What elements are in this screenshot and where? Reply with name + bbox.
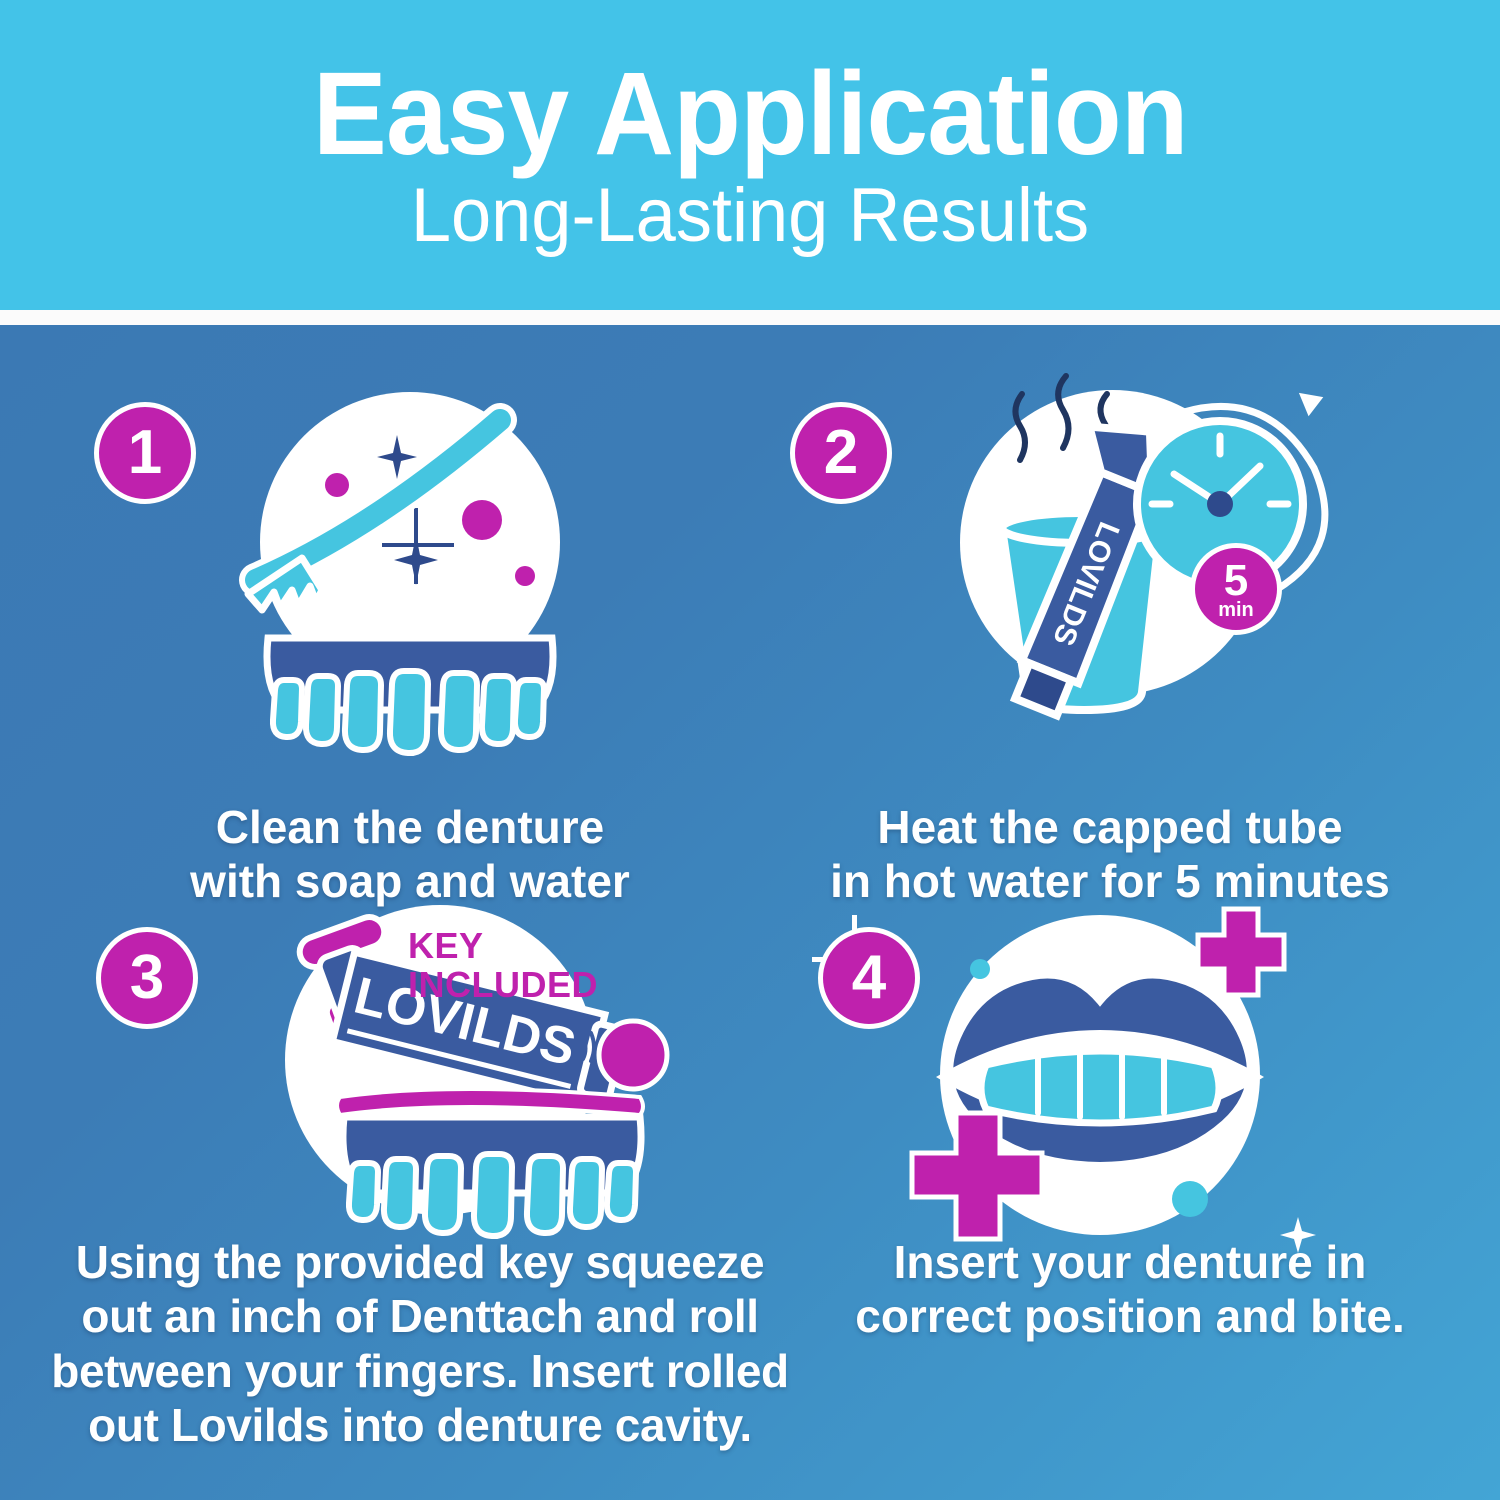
step-1: 1: [70, 380, 750, 940]
caption-line: Heat the capped tube: [760, 800, 1460, 854]
caption-line: correct position and bite.: [800, 1289, 1460, 1343]
step-1-caption: Clean the denture with soap and water: [70, 800, 750, 909]
caption-line: Insert your denture in: [800, 1235, 1460, 1289]
step-3-caption: Using the provided key squeeze out an in…: [40, 1235, 800, 1452]
caption-line: out an inch of Denttach and roll: [40, 1289, 800, 1343]
step-number-badge-2: 2: [790, 402, 892, 504]
timer-unit: min: [1218, 600, 1254, 620]
step-2: 2 LOVILDS: [760, 380, 1460, 940]
caption-line: in hot water for 5 minutes: [760, 854, 1460, 908]
header-banner: Easy Application Long-Lasting Results: [0, 0, 1500, 310]
step-number-badge-1: 1: [94, 402, 196, 504]
step-2-caption: Heat the capped tube in hot water for 5 …: [760, 800, 1460, 909]
caption-line: Using the provided key squeeze: [40, 1235, 800, 1289]
step-4-caption: Insert your denture in correct position …: [800, 1235, 1460, 1344]
caption-line: with soap and water: [70, 854, 750, 908]
step-number-badge-3: 3: [96, 927, 198, 1029]
step-number-badge-4: 4: [818, 927, 920, 1029]
header-divider: [0, 310, 1500, 325]
caption-line: between your fingers. Insert rolled: [40, 1344, 800, 1398]
infographic-page: Easy Application Long-Lasting Results 1: [0, 0, 1500, 1500]
caption-line: Clean the denture: [70, 800, 750, 854]
key-included-line: KEY: [408, 927, 598, 966]
step-4: 4: [800, 905, 1460, 1485]
timer-badge: 5 min: [1190, 543, 1282, 635]
steps-container: 1: [0, 325, 1500, 1500]
page-title: Easy Application: [313, 54, 1188, 174]
plus-icon-top: [1198, 909, 1284, 995]
key-included-line: INCLUDED: [408, 966, 598, 1005]
key-included-label: KEY INCLUDED: [408, 927, 598, 1005]
caption-line: out Lovilds into denture cavity.: [40, 1398, 800, 1452]
step-3: 3 LOVILDS: [40, 905, 800, 1485]
timer-value: 5: [1224, 559, 1248, 603]
page-subtitle: Long-Lasting Results: [411, 176, 1089, 256]
